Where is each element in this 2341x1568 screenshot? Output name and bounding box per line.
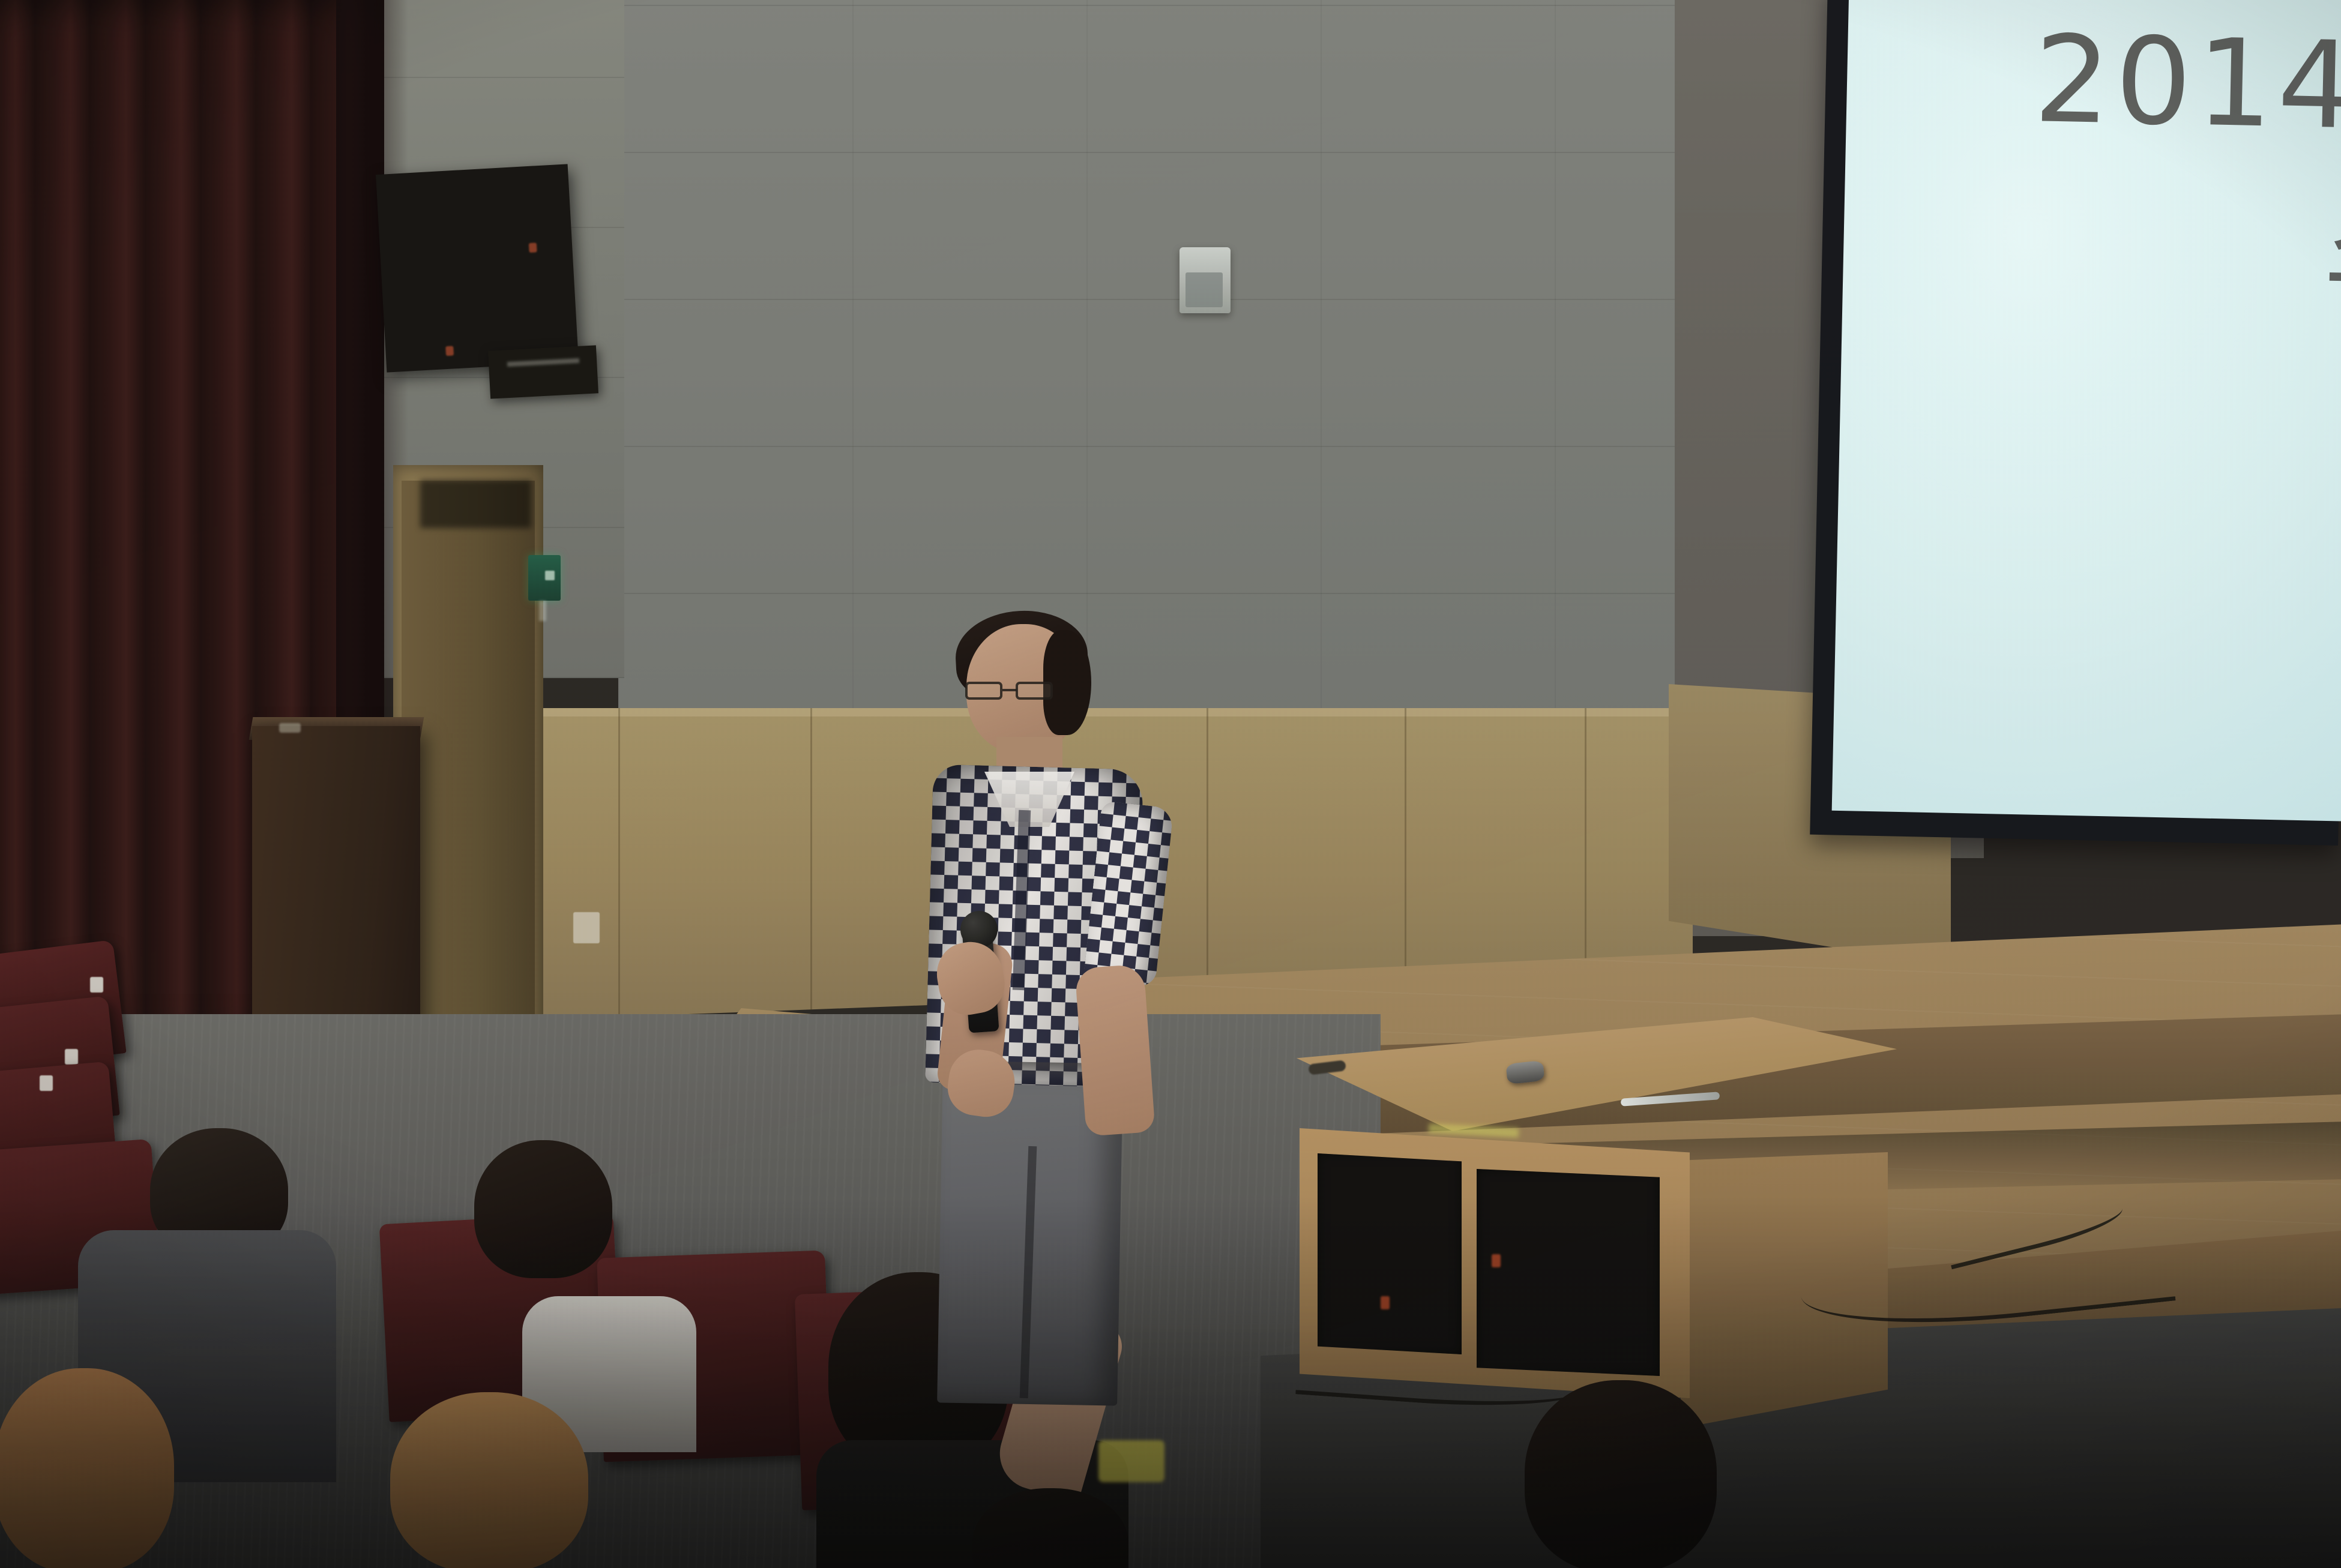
av-cabinet-door-right[interactable]: [1477, 1169, 1660, 1376]
wall-sensor-icon: [1180, 247, 1231, 313]
cabinet-led-icon: [1492, 1254, 1501, 1267]
podium-clip-icon: [279, 723, 301, 733]
exit-sign-icon: [528, 555, 561, 601]
wall-outlet-icon: [573, 912, 600, 943]
screen-slide-text: 2014년 스승: [1810, 0, 2341, 846]
door-header-shadow: [420, 480, 531, 528]
presenter: [912, 606, 1164, 1404]
slide-line-2: 스승: [2322, 173, 2341, 322]
cabinet-led-icon: [1381, 1296, 1390, 1309]
shirt-yellow-detail: [1098, 1440, 1164, 1482]
av-cabinet-door-left[interactable]: [1318, 1153, 1462, 1354]
auditorium-photo: 2014년 스승: [0, 0, 2341, 1568]
slide-line-1: 2014년: [2032, 11, 2341, 158]
wall-speaker-base: [488, 345, 598, 398]
seat-number-plate: [65, 1049, 78, 1065]
seat-number-plate: [40, 1075, 53, 1091]
seat-number-plate: [90, 977, 103, 993]
door-leaf: [402, 481, 535, 1039]
wall-speaker-icon: [376, 164, 579, 372]
exit-sign-mount: [539, 601, 546, 621]
eyeglasses-icon: [965, 682, 1055, 700]
podium: [252, 726, 420, 1050]
presenter-arm-right: [1074, 964, 1155, 1136]
projection-screen: 2014년 스승: [1819, 0, 2341, 840]
